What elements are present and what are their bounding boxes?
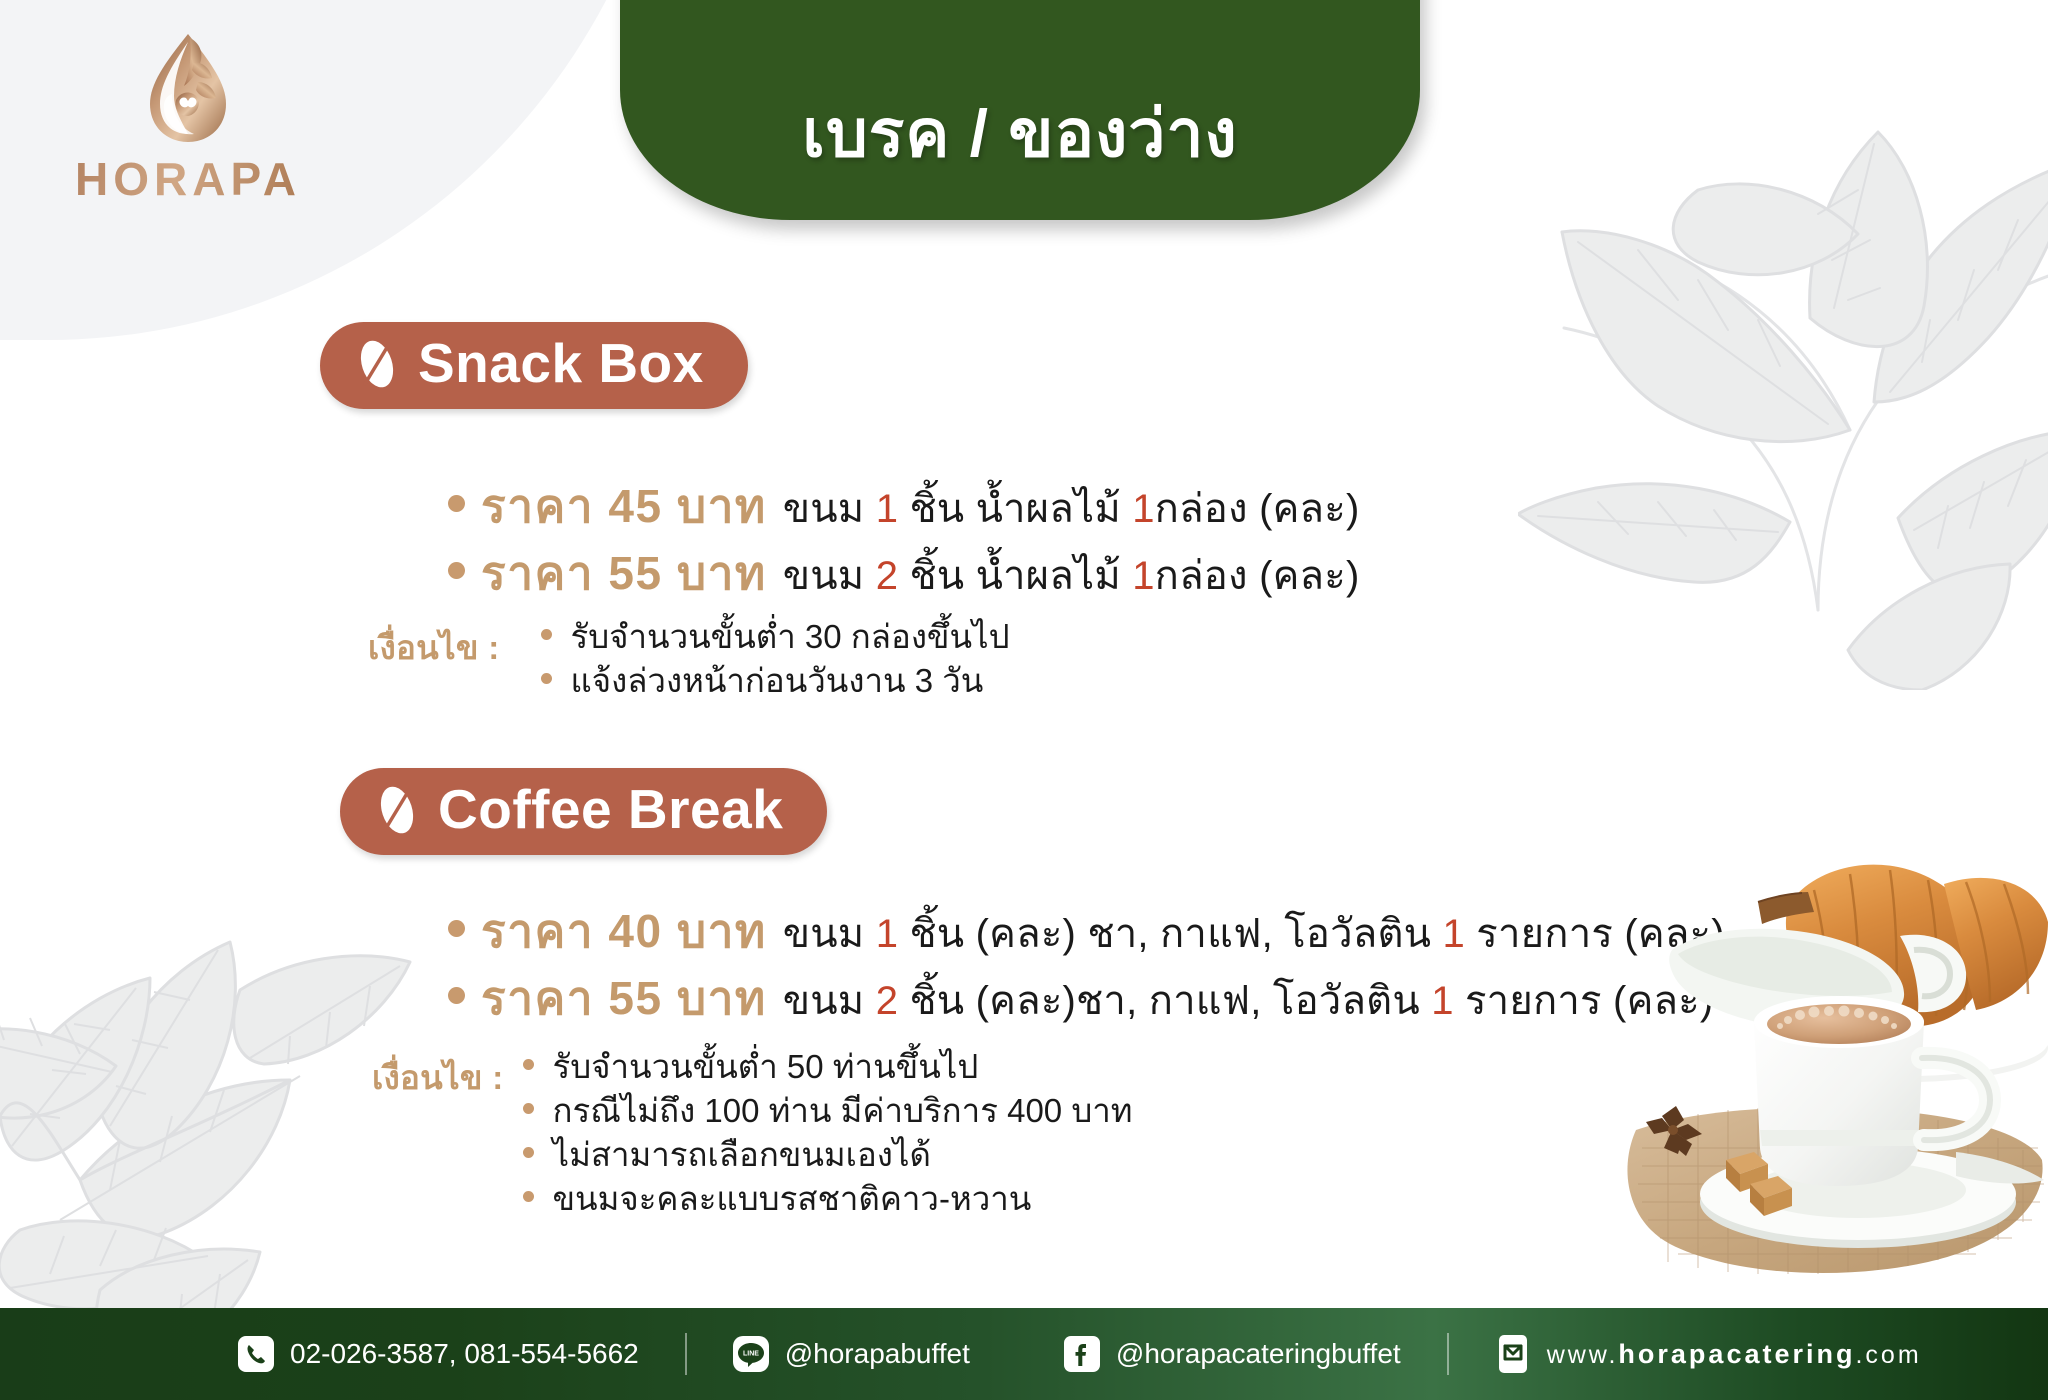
footer-website-domain: horapacatering bbox=[1618, 1339, 1855, 1369]
condition-text: ขนมจะคละแบบรสชาติคาว-หวาน bbox=[552, 1177, 1031, 1221]
condition-item: ขนมจะคละแบบรสชาติคาว-หวาน bbox=[517, 1177, 1132, 1221]
footer-facebook[interactable]: @horapacateringbuffet bbox=[1064, 1336, 1401, 1372]
poster-canvas: HORAPA เบรค / ของว่าง Snack Box ราคา 45 … bbox=[0, 0, 2048, 1400]
price-description: ขนม 1 ชิ้น (คละ) ชา, กาแฟ, โอวัลติน 1 รา… bbox=[783, 901, 1725, 965]
leaf-droplet-logo-icon bbox=[128, 28, 248, 148]
section-badge-coffee-break: Coffee Break bbox=[340, 768, 827, 855]
conditions-title: เงื่อนไข : bbox=[368, 615, 499, 674]
condition-item: ไม่สามารถเลือกขนมเองได้ bbox=[517, 1133, 1132, 1177]
coffee-bean-icon bbox=[376, 784, 418, 836]
bullet-icon bbox=[541, 629, 552, 640]
footer-divider bbox=[1447, 1333, 1449, 1375]
condition-text: กรณีไม่ถึง 100 ท่าน มีค่าบริการ 400 บาท bbox=[552, 1089, 1132, 1133]
footer-bar: 02-026-3587, 081-554-5662 LINE @horapabu… bbox=[0, 1308, 2048, 1400]
price-row: ราคา 45 บาท ขนม 1 ชิ้น น้ำผลไม้ 1กล่อง (… bbox=[448, 470, 1359, 543]
brand-logo: HORAPA bbox=[58, 28, 318, 208]
price-description: ขนม 2 ชิ้น น้ำผลไม้ 1กล่อง (คละ) bbox=[783, 543, 1360, 607]
price-label: ราคา 45 บาท bbox=[481, 470, 767, 543]
conditions-list: รับจำนวนขั้นต่ำ 50 ท่านขึ้นไป กรณีไม่ถึง… bbox=[517, 1045, 1132, 1221]
footer-divider bbox=[685, 1333, 687, 1375]
footer-phone-text: 02-026-3587, 081-554-5662 bbox=[290, 1338, 639, 1370]
section-badge-label: Coffee Break bbox=[438, 780, 783, 839]
condition-text: รับจำนวนขั้นต่ำ 50 ท่านขึ้นไป bbox=[552, 1045, 978, 1089]
conditions-title: เงื่อนไข : bbox=[372, 1045, 503, 1104]
email-icon bbox=[1495, 1333, 1531, 1375]
header-banner: เบรค / ของว่าง bbox=[620, 0, 1420, 220]
condition-item: รับจำนวนขั้นต่ำ 50 ท่านขึ้นไป bbox=[517, 1045, 1132, 1089]
footer-line-text: @horapabuffet bbox=[785, 1338, 970, 1370]
bullet-icon bbox=[448, 495, 465, 512]
bullet-icon bbox=[448, 562, 465, 579]
condition-text: รับจำนวนขั้นต่ำ 30 กล่องขึ้นไป bbox=[570, 615, 1009, 659]
footer-website-tld: .com bbox=[1855, 1341, 1921, 1369]
conditions-block: เงื่อนไข : รับจำนวนขั้นต่ำ 30 กล่องขึ้นไ… bbox=[368, 615, 1010, 703]
footer-phone[interactable]: 02-026-3587, 081-554-5662 bbox=[238, 1336, 639, 1372]
footer-website-prefix: www. bbox=[1547, 1341, 1619, 1369]
bullet-icon bbox=[448, 920, 465, 937]
brand-name: HORAPA bbox=[58, 152, 318, 206]
price-label: ราคา 55 บาท bbox=[481, 537, 767, 610]
footer-line[interactable]: LINE @horapabuffet bbox=[733, 1336, 970, 1372]
bullet-icon bbox=[448, 987, 465, 1004]
footer-facebook-text: @horapacateringbuffet bbox=[1116, 1338, 1401, 1370]
section-badge-snack-box: Snack Box bbox=[320, 322, 748, 409]
leaf-watermark-top-right bbox=[1518, 130, 2048, 690]
bullet-icon bbox=[523, 1059, 534, 1070]
bullet-icon bbox=[523, 1191, 534, 1202]
bullet-icon bbox=[523, 1147, 534, 1158]
conditions-block: เงื่อนไข : รับจำนวนขั้นต่ำ 50 ท่านขึ้นไป… bbox=[372, 1045, 1133, 1221]
price-row: ราคา 55 บาท ขนม 2 ชิ้น น้ำผลไม้ 1กล่อง (… bbox=[448, 537, 1359, 610]
bullet-icon bbox=[523, 1103, 534, 1114]
price-label: ราคา 55 บาท bbox=[481, 962, 767, 1035]
svg-text:LINE: LINE bbox=[743, 1351, 759, 1358]
section-badge-label: Snack Box bbox=[418, 334, 704, 393]
bullet-icon bbox=[541, 673, 552, 684]
condition-text: แจ้งล่วงหน้าก่อนวันงาน 3 วัน bbox=[570, 659, 983, 703]
price-description: ขนม 1 ชิ้น น้ำผลไม้ 1กล่อง (คละ) bbox=[783, 476, 1360, 540]
price-row: ราคา 40 บาท ขนม 1 ชิ้น (คละ) ชา, กาแฟ, โ… bbox=[448, 895, 1725, 968]
phone-icon bbox=[238, 1336, 274, 1372]
price-label: ราคา 40 บาท bbox=[481, 895, 767, 968]
condition-item: แจ้งล่วงหน้าก่อนวันงาน 3 วัน bbox=[513, 659, 1009, 703]
price-row: ราคา 55 บาท ขนม 2 ชิ้น (คละ)ชา, กาแฟ, โอ… bbox=[448, 962, 1713, 1035]
condition-item: กรณีไม่ถึง 100 ท่าน มีค่าบริการ 400 บาท bbox=[517, 1089, 1132, 1133]
footer-website[interactable]: www.horapacatering.com bbox=[1495, 1333, 1922, 1375]
conditions-list: รับจำนวนขั้นต่ำ 30 กล่องขึ้นไป แจ้งล่วงห… bbox=[513, 615, 1009, 703]
page-title: เบรค / ของว่าง bbox=[802, 81, 1237, 186]
condition-item: รับจำนวนขั้นต่ำ 30 กล่องขึ้นไป bbox=[513, 615, 1009, 659]
price-description: ขนม 2 ชิ้น (คละ)ชา, กาแฟ, โอวัลติน 1 ราย… bbox=[783, 968, 1714, 1032]
line-icon: LINE bbox=[733, 1336, 769, 1372]
coffee-bean-icon bbox=[356, 338, 398, 390]
condition-text: ไม่สามารถเลือกขนมเองได้ bbox=[552, 1133, 930, 1177]
facebook-icon bbox=[1064, 1336, 1100, 1372]
